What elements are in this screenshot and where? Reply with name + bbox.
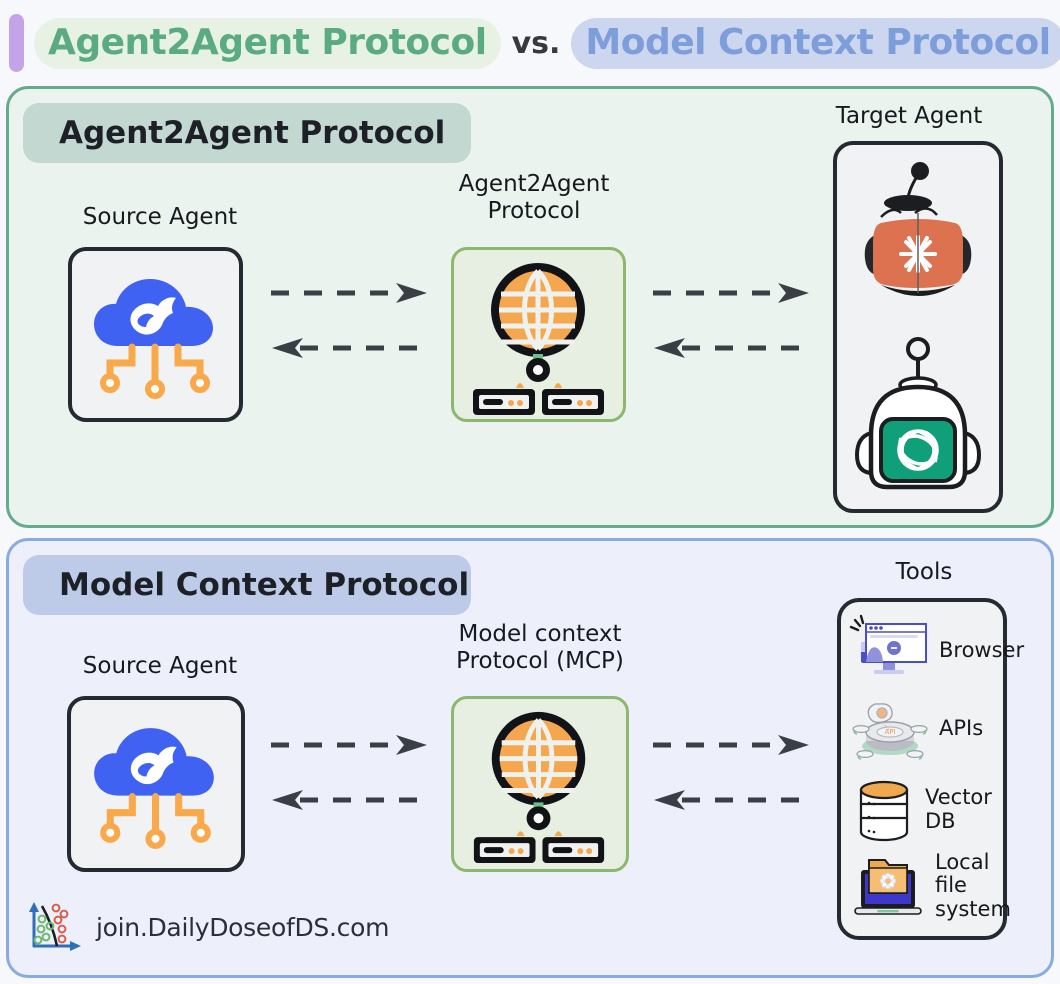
a2a-arrow-protocol-to-target: [649, 279, 814, 307]
a2a-arrow-source-to-protocol: [267, 279, 432, 307]
tool-label-local-file-system-line2: system: [935, 898, 1011, 922]
a2a-source-agent-card[interactable]: [68, 247, 243, 422]
page-title: Agent2Agent Protocol vs. Model Context P…: [0, 0, 1060, 86]
a2a-protocol-label: Agent2Agent Protocol: [409, 171, 659, 225]
diagram-canvas: Agent2Agent Protocol vs. Model Context P…: [0, 0, 1060, 984]
agent2agent-panel-header: Agent2Agent Protocol: [23, 103, 471, 163]
a2a-protocol-card[interactable]: [451, 247, 626, 422]
tool-label-local-file-system: Local file system: [935, 851, 1011, 922]
scatter-plot-axes-logo: [24, 898, 86, 956]
footer-brand-text: join.DailyDoseofDS.com: [96, 913, 389, 942]
tool-row-local-file-system[interactable]: Local file system: [849, 850, 1011, 922]
tool-label-vector-db: Vector DB: [925, 786, 1003, 833]
mcp-source-agent-card[interactable]: [67, 696, 245, 872]
mcp-source-agent-label: Source Agent: [65, 653, 255, 680]
monitor-browser-icon: [847, 614, 931, 688]
footer-brand[interactable]: join.DailyDoseofDS.com: [24, 898, 389, 956]
mcp-tools-card[interactable]: Browser API: [837, 598, 1007, 940]
mcp-tools-label: Tools: [839, 559, 1009, 586]
svg-text:API: API: [884, 728, 895, 736]
api-disc-icon: API: [849, 694, 931, 764]
mcp-protocol-label-line1: Model context: [405, 621, 675, 648]
a2a-protocol-label-line1: Agent2Agent: [409, 171, 659, 198]
cloud-whale-network-icon: [71, 700, 241, 868]
mcp-arrow-protocol-to-source: [267, 786, 432, 814]
mcp-protocol-label: Model context Protocol (MCP): [405, 621, 675, 675]
title-accent-bar: [9, 14, 24, 72]
orange-globe-servers-icon: [454, 250, 623, 419]
tool-label-local-file-system-line1: Local file: [935, 851, 1011, 898]
title-a2a-label: Agent2Agent Protocol: [34, 18, 501, 69]
agent2agent-panel: Agent2Agent Protocol Source Agent: [6, 86, 1054, 528]
title-mcp-label: Model Context Protocol: [571, 18, 1060, 69]
a2a-source-agent-label: Source Agent: [65, 204, 255, 231]
cloud-whale-network-icon: [72, 251, 239, 418]
tool-label-apis: APIs: [939, 717, 983, 741]
a2a-target-agent-label: Target Agent: [809, 103, 1009, 130]
a2a-target-agent-card[interactable]: [833, 141, 1003, 513]
mcp-arrow-protocol-to-tools: [649, 731, 814, 759]
tool-label-browser: Browser: [939, 639, 1024, 663]
a2a-protocol-label-line2: Protocol: [409, 198, 659, 225]
a2a-arrow-protocol-to-source: [267, 334, 432, 362]
database-cylinder-icon: [851, 774, 917, 846]
laptop-folder-icon: [849, 850, 927, 922]
tool-row-vector-db[interactable]: Vector DB: [851, 774, 1003, 846]
tool-row-apis[interactable]: API: [849, 694, 983, 764]
title-vs-label: vs.: [501, 26, 572, 61]
a2a-arrow-target-to-protocol: [649, 334, 814, 362]
tool-row-browser[interactable]: Browser: [847, 614, 1024, 688]
mcp-protocol-label-line2: Protocol (MCP): [405, 648, 675, 675]
mcp-protocol-card[interactable]: [451, 696, 629, 872]
orange-globe-servers-icon: [454, 699, 626, 867]
mcp-panel-header: Model Context Protocol: [23, 555, 471, 615]
mcp-arrow-tools-to-protocol: [649, 786, 814, 814]
mcp-arrow-source-to-protocol: [267, 731, 432, 759]
title-text-group: Agent2Agent Protocol vs. Model Context P…: [34, 12, 1060, 74]
